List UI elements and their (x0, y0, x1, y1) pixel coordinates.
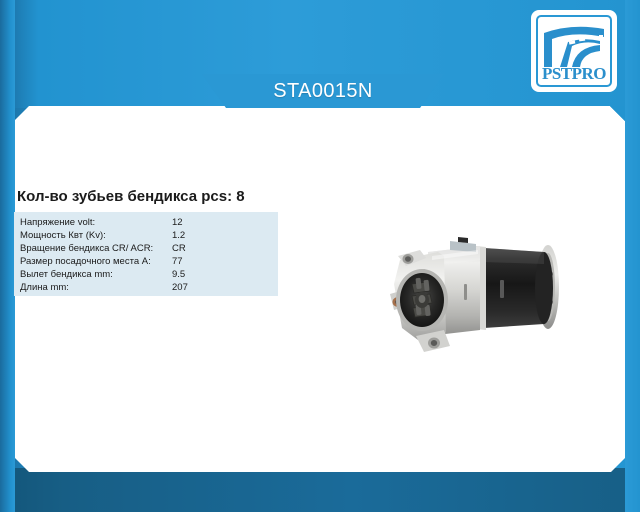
right-edge-strip (625, 0, 640, 512)
table-row: Напряжение volt: 12 (20, 216, 278, 229)
spec-label: Напряжение volt: (20, 216, 172, 229)
spec-label: Размер посадочного места A: (20, 255, 172, 268)
spec-value: 77 (172, 255, 183, 268)
footer-band (0, 468, 640, 512)
left-edge-strip (0, 0, 15, 512)
page-title: STA0015N (178, 74, 468, 108)
page-title-text: STA0015N (273, 80, 373, 103)
table-row: Мощность Квт (Kv): 1.2 (20, 229, 278, 242)
brand-logo-text: PSTPRO (538, 65, 610, 83)
product-spec-card: PSTPRO STA0015N Кол-во зубьев бендикса p… (0, 0, 640, 512)
spec-label: Мощность Квт (Kv): (20, 229, 172, 242)
brand-logo: PSTPRO (531, 10, 617, 92)
table-row: Размер посадочного места A: 77 (20, 255, 278, 268)
spec-label: Вылет бендикса mm: (20, 268, 172, 281)
spec-label: Длина mm: (20, 281, 172, 294)
brand-logo-frame: PSTPRO (536, 15, 612, 87)
spec-value: CR (172, 242, 186, 255)
spec-value: 207 (172, 281, 188, 294)
spec-table: Напряжение volt: 12 Мощность Квт (Kv): 1… (14, 212, 278, 296)
teeth-count-heading: Кол-во зубьев бендикса pcs: 8 (17, 188, 245, 205)
spec-value: 12 (172, 216, 183, 229)
table-row: Длина mm: 207 (20, 281, 278, 294)
spec-label: Вращение бендикса CR/ ACR: (20, 242, 172, 255)
panel-top-right-bevel (610, 106, 625, 121)
spec-value: 1.2 (172, 229, 185, 242)
table-row: Вращение бендикса CR/ ACR: CR (20, 242, 278, 255)
starter-motor-photo (372, 212, 582, 382)
table-row: Вылет бендикса mm: 9.5 (20, 268, 278, 281)
spec-value: 9.5 (172, 268, 185, 281)
